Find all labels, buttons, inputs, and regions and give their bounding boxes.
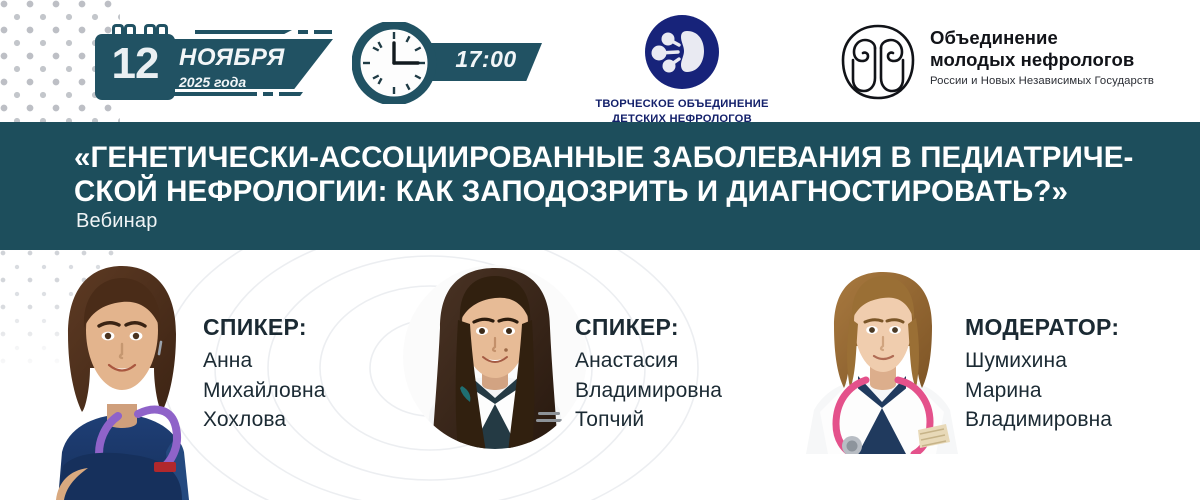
- title-band: «ГЕНЕТИЧЕСКИ-АССОЦИИРОВАННЫЕ ЗАБОЛЕВАНИЯ…: [0, 122, 1200, 250]
- date-ribbon-dash-bottom: [167, 92, 257, 96]
- speaker-photo-anna-khokhlova: [30, 256, 215, 500]
- logo-young-nephrologists-text: Объединение молодых нефрологов России и …: [930, 27, 1154, 89]
- webinar-announcement-banner: 12 НОЯБРЯ 2025 года: [0, 0, 1200, 500]
- date-ribbon-dash-top-3: [314, 30, 332, 34]
- participant-3-name: Шумихина Марина Владимировна: [965, 346, 1119, 435]
- participant-1-role: СПИКЕР:: [203, 312, 326, 342]
- participant-1: СПИКЕР: Анна Михайловна Хохлова: [20, 250, 400, 500]
- participant-2-info: СПИКЕР: Анастасия Владимировна Топчий: [575, 312, 722, 435]
- participant-2-role: СПИКЕР:: [575, 312, 722, 342]
- event-day-number: 12: [95, 40, 175, 88]
- date-ribbon-dash-bottom-3: [279, 92, 303, 96]
- time-badge: 17:00: [352, 22, 542, 102]
- event-time: 17:00: [438, 46, 534, 73]
- moderator-photo-marina-shumikhina: [790, 264, 975, 454]
- participant-1-name: Анна Михайловна Хохлова: [203, 346, 326, 435]
- logo-young-nephrologists: Объединение молодых нефрологов России и …: [838, 22, 1168, 104]
- logo-creative-line-1: ТВОРЧЕСКОЕ ОБЪЕДИНЕНИЕ: [572, 97, 792, 112]
- participant-3-info: МОДЕРАТОР: Шумихина Марина Владимировна: [965, 312, 1119, 435]
- date-ribbon-dash-top-2: [298, 30, 308, 34]
- logo-young-line-2: молодых нефрологов: [930, 49, 1154, 71]
- logo-creative-association: ТВОРЧЕСКОЕ ОБЪЕДИНЕНИЕ ДЕТСКИХ НЕФРОЛОГО…: [572, 14, 792, 114]
- kidney-molecule-circle-logo: [644, 14, 720, 90]
- event-month: НОЯБРЯ: [179, 44, 285, 72]
- participant-1-info: СПИКЕР: Анна Михайловна Хохлова: [203, 312, 326, 435]
- banner-header: 12 НОЯБРЯ 2025 года: [0, 0, 1200, 122]
- date-ribbon-dash-bottom-2: [263, 92, 273, 96]
- participant-2-name: Анастасия Владимировна Топчий: [575, 346, 722, 435]
- event-type-label: Вебинар: [76, 210, 158, 233]
- participant-3: МОДЕРАТОР: Шумихина Марина Владимировна: [785, 250, 1200, 500]
- speaker-photo-anastasia-topchiy: [400, 262, 590, 452]
- event-year: 2025 года: [179, 74, 246, 90]
- clock-icon: [352, 22, 438, 104]
- participant-3-role: МОДЕРАТОР:: [965, 312, 1119, 342]
- kidneys-outline-logo: [838, 22, 918, 102]
- date-badge: 12 НОЯБРЯ 2025 года: [95, 24, 335, 100]
- participants-section: СПИКЕР: Анна Михайловна Хохлова: [0, 250, 1200, 500]
- date-ribbon-dash-top: [195, 30, 292, 34]
- logo-young-line-3: России и Новых Независимых Государств: [930, 73, 1154, 89]
- participant-2: СПИКЕР: Анастасия Владимировна Топчий: [400, 250, 785, 500]
- page-title: «ГЕНЕТИЧЕСКИ-АССОЦИИРОВАННЫЕ ЗАБОЛЕВАНИЯ…: [74, 141, 1174, 209]
- logo-young-line-1: Объединение: [930, 27, 1154, 49]
